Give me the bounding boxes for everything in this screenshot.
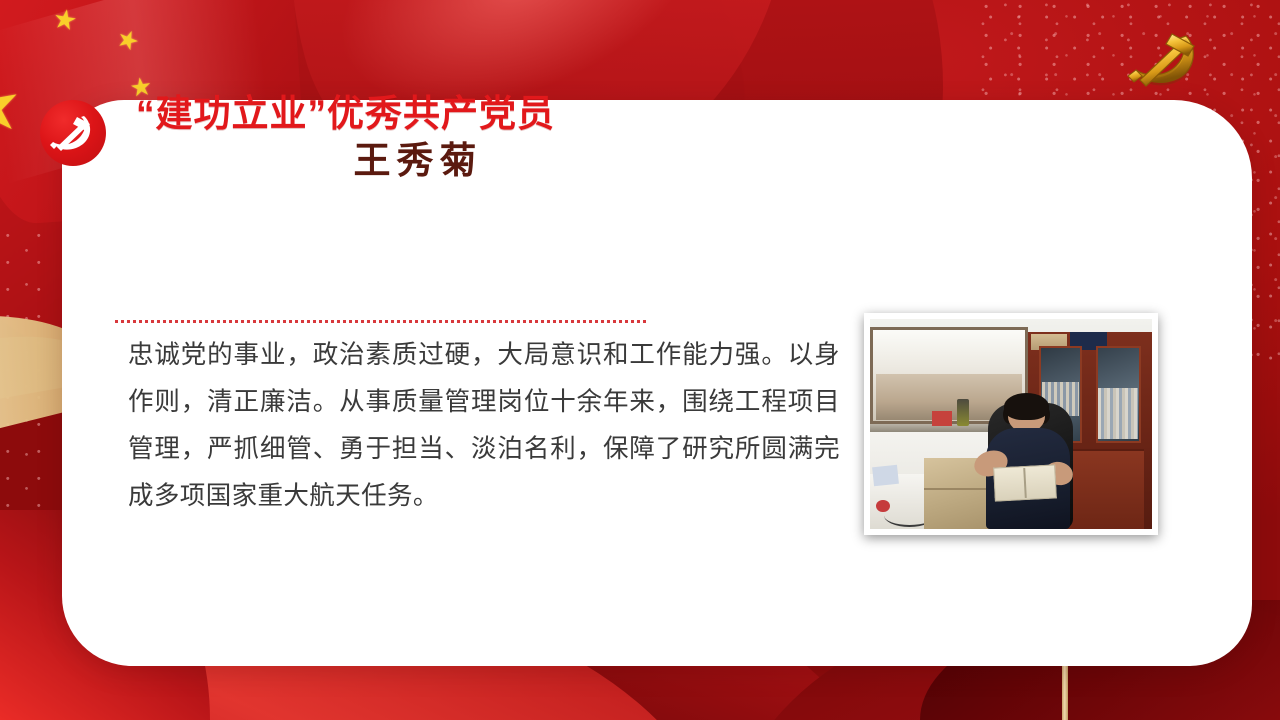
gold-flagpole-icon <box>1062 660 1068 720</box>
title-block: “建功立业”优秀共产党员 王秀菊 <box>136 92 700 182</box>
portrait-photo-frame <box>864 313 1158 535</box>
dotted-divider <box>115 320 647 323</box>
page-title: “建功立业”优秀共产党员 <box>136 92 700 136</box>
photo-desk-bottle <box>957 399 968 426</box>
body-paragraph-text: 忠诚党的事业，政治素质过硬，大局意识和工作能力强。以身作则，清正廉洁。从事质量管… <box>128 332 840 520</box>
photo-open-book <box>993 464 1057 501</box>
flag-star-small-1: ★ <box>51 5 80 36</box>
photo-person-hair <box>1004 393 1049 420</box>
slide-canvas: ★ ★ ★ ★ ★ <box>0 0 1280 720</box>
body-paragraph: 忠诚党的事业，政治素质过硬，大局意识和工作能力强。以身作则，清正廉洁。从事质量管… <box>128 332 840 520</box>
party-emblem-hammer-sickle-icon <box>1116 28 1212 100</box>
photo-desk-papers <box>872 465 899 486</box>
portrait-photo <box>870 319 1152 529</box>
hammer-sickle-icon <box>40 100 106 166</box>
header: “建功立业”优秀共产党员 王秀菊 <box>40 92 700 182</box>
person-name: 王秀菊 <box>136 142 700 183</box>
photo-books-lower <box>1098 388 1137 438</box>
photo-desk-item-red <box>932 411 952 426</box>
